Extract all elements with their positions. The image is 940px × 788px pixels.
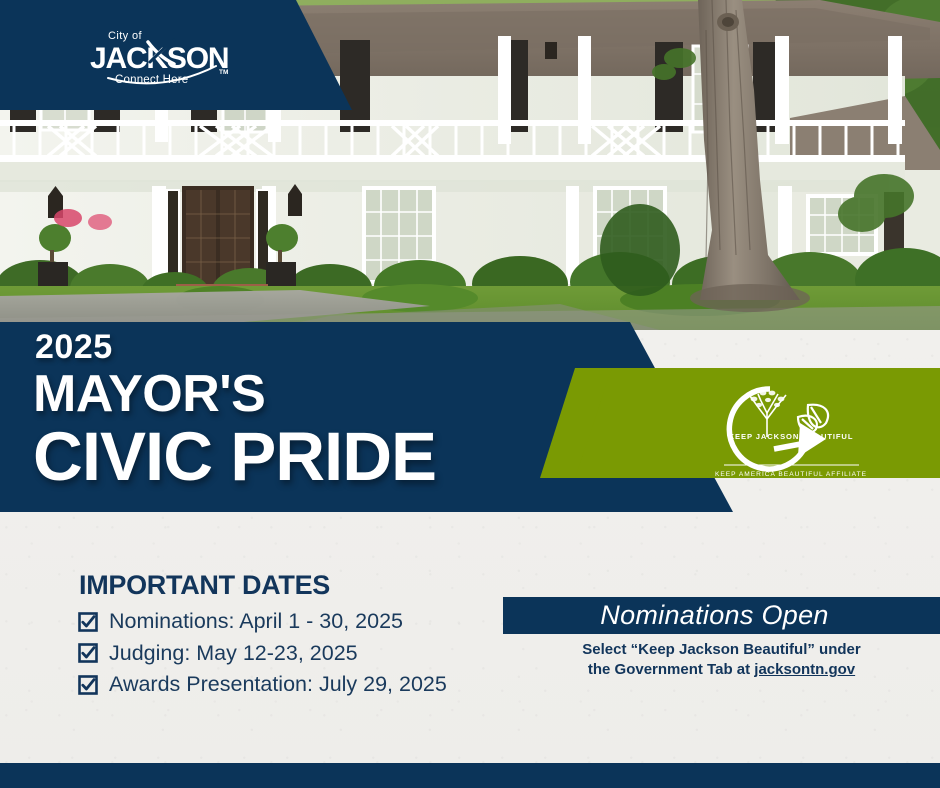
important-dates-heading: IMPORTANT DATES [79,570,508,601]
poster-title: 2025 MAYOR'S CIVIC PRIDE [33,330,593,493]
title-line-1: MAYOR'S [33,368,593,421]
title-year: 2025 [35,330,593,364]
important-dates-section: IMPORTANT DATES Nominations: April 1 - 3… [78,570,508,705]
poster-canvas: City of JACKSON Connect Here TM 2025 MAY… [0,0,940,788]
date-item-label: Judging: May 12-23, 2025 [109,642,358,666]
instructions-line-2-prefix: the Government Tab at [588,661,754,678]
keep-jackson-beautiful-logo: KEEP JACKSON BEAUTIFUL KEEP AMERICA BEAU… [714,373,869,481]
jacksontn-website-link[interactable]: jacksontn.gov [754,661,855,678]
kjb-ring-text: KEEP JACKSON BEAUTIFUL [729,432,854,441]
date-item: Awards Presentation: July 29, 2025 [78,673,508,697]
checkbox-checked-icon [78,675,98,695]
date-item-label: Awards Presentation: July 29, 2025 [109,673,447,697]
city-of-jackson-logo: City of JACKSON Connect Here TM [88,26,238,94]
instructions-line-1: Select “Keep Jackson Beautiful” under [582,641,860,658]
checkbox-checked-icon [78,612,98,632]
svg-text:City of: City of [108,30,143,42]
date-item-label: Nominations: April 1 - 30, 2025 [109,610,403,634]
nominations-instructions: Select “Keep Jackson Beautiful” under th… [503,640,940,680]
nominations-open-banner: Nominations Open [503,597,940,634]
date-item: Nominations: April 1 - 30, 2025 [78,610,508,634]
kjb-affiliate-text: KEEP AMERICA BEAUTIFUL AFFILIATE [715,471,867,478]
svg-text:TM: TM [219,69,228,76]
date-item: Judging: May 12-23, 2025 [78,642,508,666]
checkbox-checked-icon [78,643,98,663]
title-line-2: CIVIC PRIDE [33,421,593,493]
svg-text:Connect Here: Connect Here [115,74,188,86]
nominations-open-label: Nominations Open [600,600,842,631]
footer-bar [0,763,940,788]
